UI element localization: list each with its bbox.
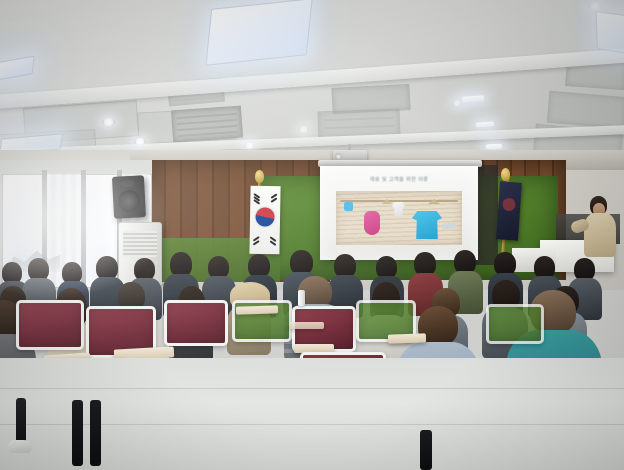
audience-legs: [420, 430, 432, 470]
chair-tablet-arm[interactable]: [290, 322, 324, 329]
slide-garment-white: [392, 202, 405, 216]
slide-garment-pink: [364, 211, 380, 235]
korean-national-flag: [249, 186, 280, 255]
slide-photo: [336, 191, 462, 245]
audience-legs: [72, 400, 83, 466]
ceiling-downlight: [588, 2, 602, 11]
chair-tablet-arm[interactable]: [388, 333, 426, 343]
ceiling-air-vent: [171, 106, 243, 143]
lecture-hall-photograph: 재료 및 고객을 위한 의류: [0, 0, 624, 470]
tumbler[interactable]: [298, 290, 305, 306]
air-conditioner-grille: [123, 231, 157, 257]
ceiling-panel-light: [0, 56, 35, 83]
flag-pole-finial: [501, 168, 510, 181]
ceiling-tube-light: [462, 95, 484, 103]
slide-garment-blue-large: [412, 211, 442, 239]
projector-lens: [335, 153, 342, 160]
ceiling-panel-light: [596, 11, 624, 55]
slide-title: 재료 및 고객을 위한 의류: [320, 176, 478, 183]
ceiling-beam: [0, 46, 624, 110]
wall-shadow-strip: [476, 165, 498, 265]
ceiling-downlight: [298, 126, 309, 133]
slide-garment-blue-small: [344, 202, 353, 211]
ceiling-downlight: [244, 142, 255, 149]
pa-speaker: [112, 175, 146, 219]
flag-pole-finial: [255, 170, 264, 183]
chair-backrest[interactable]: [486, 304, 544, 344]
ceiling-downlight: [102, 118, 115, 126]
slide-photo-rail: [340, 200, 458, 202]
projection-screen: 재료 및 고객을 위한 의류: [320, 166, 478, 260]
audience-legs: [16, 398, 26, 446]
shoe: [8, 440, 32, 453]
chair-backrest[interactable]: [16, 300, 84, 350]
chair-tablet-arm[interactable]: [236, 305, 278, 314]
taeguk-symbol: [255, 208, 274, 227]
ceiling-tube-light: [476, 122, 494, 128]
ceiling: [0, 0, 624, 172]
presenter-torso: [584, 213, 616, 257]
floor-tile-seam: [0, 388, 624, 389]
audience-legs: [90, 400, 101, 466]
chair-backrest[interactable]: [164, 300, 228, 346]
ceiling-panel-light: [205, 0, 312, 66]
ceiling-tube-light: [486, 144, 502, 150]
ceiling-downlight: [452, 100, 462, 106]
ceiling-downlight: [134, 138, 146, 145]
ceiling-air-vent: [547, 91, 624, 130]
secondary-flag: [496, 181, 522, 240]
slide-garment-tag: [442, 222, 457, 230]
